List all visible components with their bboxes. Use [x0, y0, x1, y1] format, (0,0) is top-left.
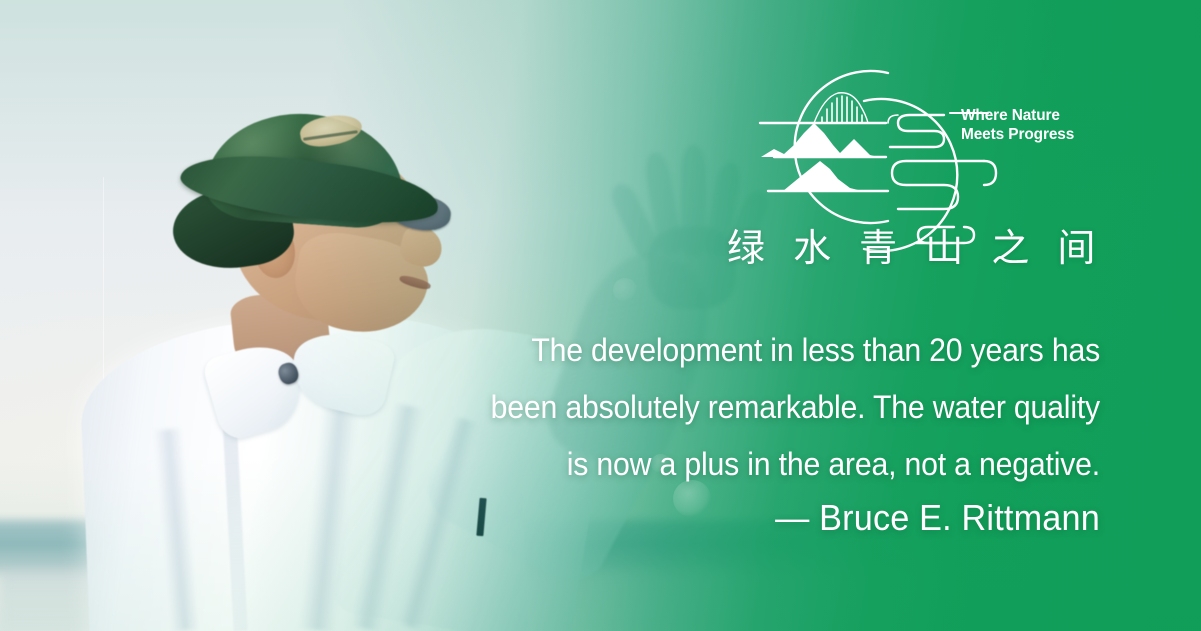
quote-line-2: been absolutely remarkable. The water qu…	[449, 379, 1100, 436]
quote-text: The development in less than 20 years ha…	[449, 322, 1100, 493]
quote-card: Where Nature Meets Progress 绿 水 青 山 之 间 …	[0, 0, 1201, 631]
brand-tagline: Where Nature Meets Progress	[961, 106, 1111, 144]
striped-hill	[814, 93, 868, 123]
quote-line-3: is now a plus in the area, not a negativ…	[449, 436, 1100, 493]
quote-line-1: The development in less than 20 years ha…	[449, 322, 1100, 379]
brand-chinese-title: 绿 水 青 山 之 间	[727, 229, 1007, 267]
quote-attribution: — Bruce E. Rittmann	[775, 493, 1100, 543]
mountain-shapes	[761, 123, 878, 191]
